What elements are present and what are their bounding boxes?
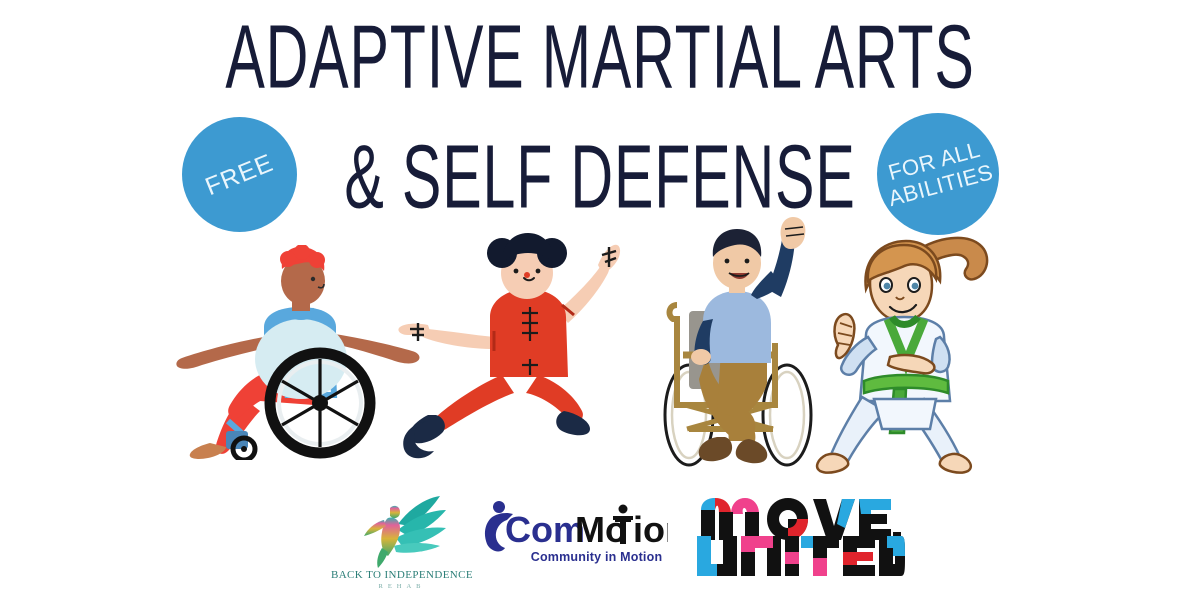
kung-fu-girl-illustration <box>398 225 648 465</box>
karate-girl-illustration <box>812 223 1007 480</box>
badge-for-all-abilities: FOR ALL ABILITIES <box>877 113 999 235</box>
wheelchair-user-arms-out-illustration <box>168 245 433 465</box>
svg-text:Mo: Mo <box>575 509 627 550</box>
logo-commotion: Com Mo ion Community in Motion <box>483 500 668 564</box>
page-title: ADAPTIVE MARTIAL ARTS & SELF DEFENSE <box>0 6 1200 206</box>
svg-text:ion: ion <box>633 509 668 550</box>
badge-free: FREE <box>182 117 297 232</box>
svg-text:Com: Com <box>505 509 585 550</box>
winged-figure-icon <box>354 494 450 568</box>
logo-back-to-independence: BACK TO INDEPENDENCE REHAB <box>322 494 482 590</box>
logo-move-united <box>695 496 905 578</box>
title-line-1: ADAPTIVE MARTIAL ARTS <box>120 12 1080 102</box>
illustration-row <box>0 215 1200 490</box>
logo-commotion-tagline: Community in Motion <box>531 550 663 564</box>
badge-for-all-abilities-label: FOR ALL ABILITIES <box>880 136 996 211</box>
logo-back-to-independence-tagline: REHAB <box>378 583 425 590</box>
sponsor-logo-row: BACK TO INDEPENDENCE REHAB Com Mo ion Co… <box>0 492 1200 600</box>
commotion-wordmark-icon: Com Mo ion <box>483 500 668 554</box>
badge-free-label: FREE <box>201 148 277 200</box>
logo-back-to-independence-wordmark: BACK TO INDEPENDENCE <box>331 569 473 581</box>
wheelchair-user-raised-fist-illustration <box>655 215 820 485</box>
move-united-wordmark-icon <box>695 496 905 578</box>
poster-canvas: ADAPTIVE MARTIAL ARTS & SELF DEFENSE FRE… <box>0 0 1200 600</box>
